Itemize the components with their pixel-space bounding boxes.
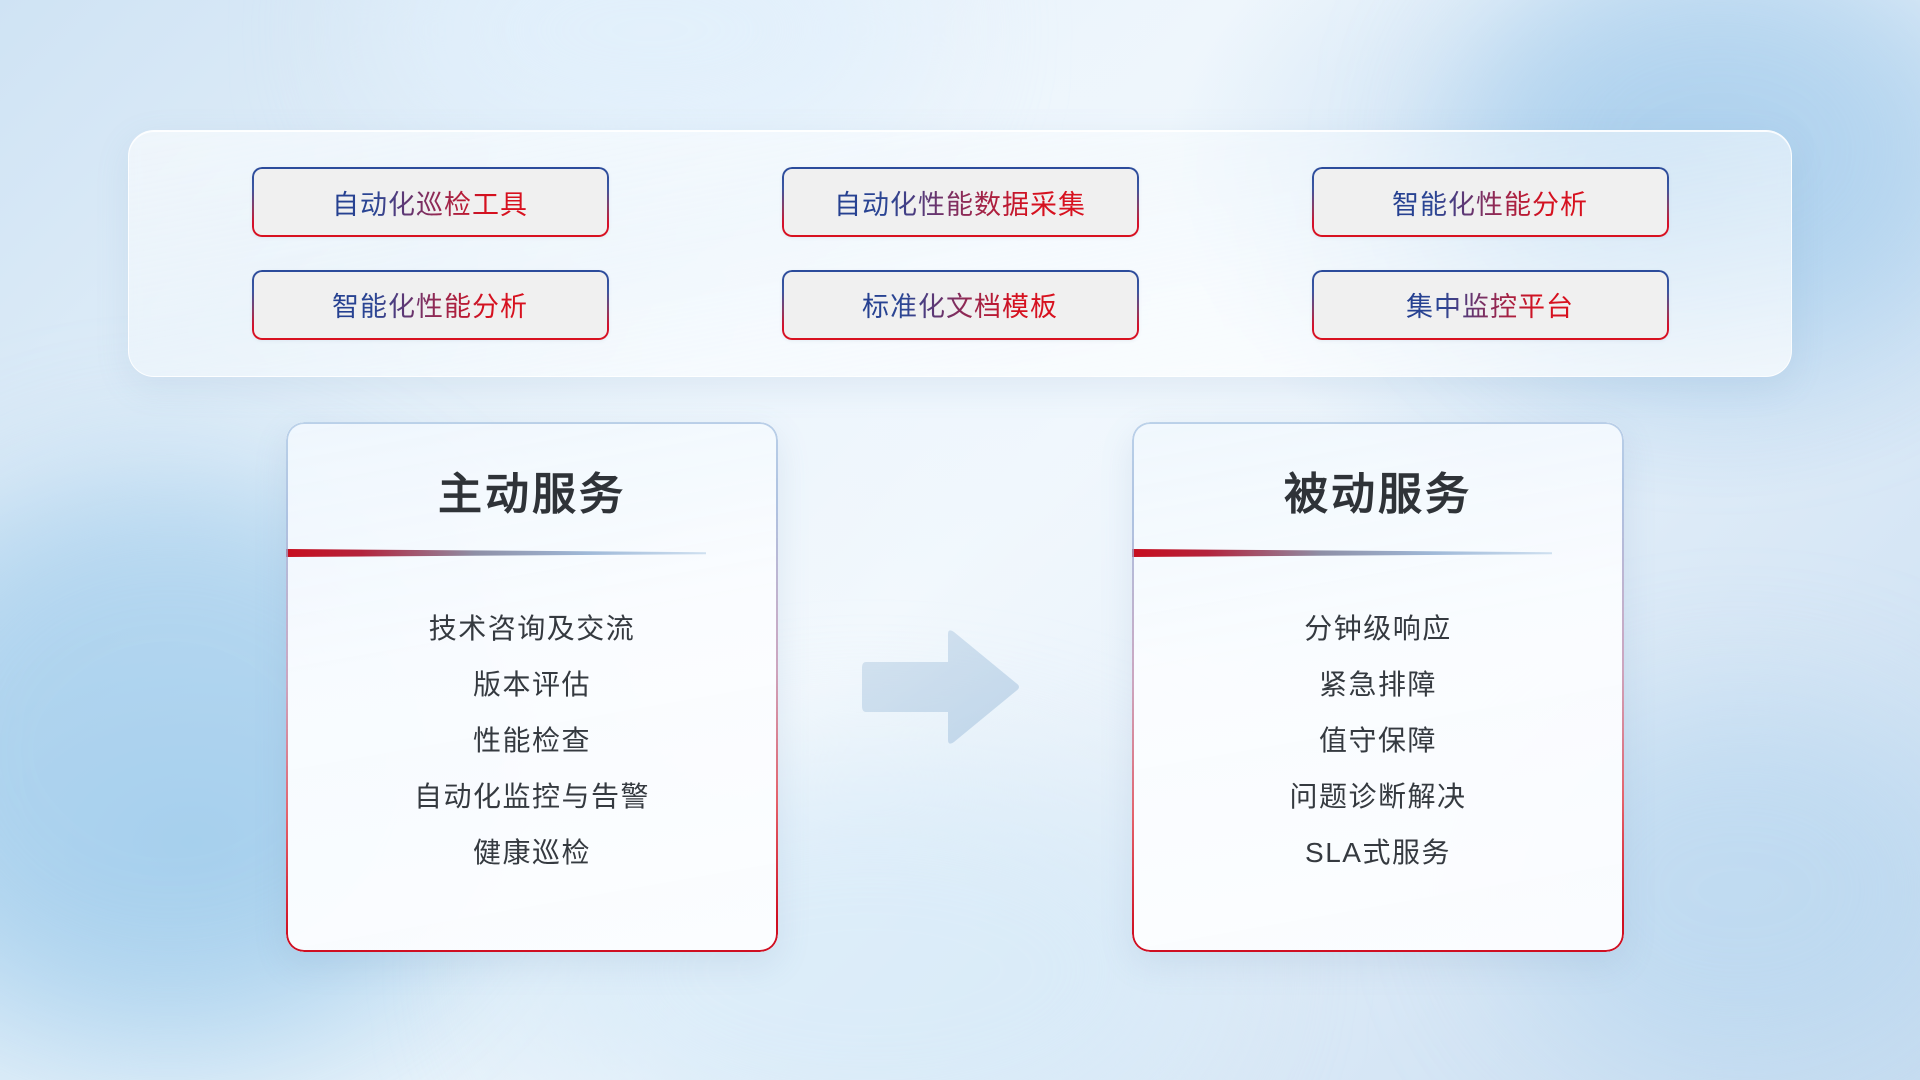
card-divider [286,548,706,558]
service-card-reactive: 被动服务 分钟级响应 紧急排障 值守保障 问题诊断解决 SLA式服务 [1132,422,1624,952]
capability-tag-label: 集中监控平台 [1406,285,1574,324]
card-divider [1132,548,1552,558]
service-item-list: 技术咨询及交流 版本评估 性能检查 自动化监控与告警 健康巡检 [286,601,778,881]
capability-tag[interactable]: 集中监控平台 [1312,270,1669,340]
list-item: 健康巡检 [286,825,778,881]
list-item: 性能检查 [286,713,778,769]
list-item: 技术咨询及交流 [286,601,778,657]
list-item: 版本评估 [286,657,778,713]
capability-tag-label: 标准化文档模板 [862,285,1058,324]
capability-tag[interactable]: 自动化巡检工具 [252,167,609,237]
capability-tag-label: 自动化巡检工具 [332,183,528,222]
capability-tag-label: 智能化性能分析 [1392,183,1588,222]
capability-tags-panel: 自动化巡检工具 自动化性能数据采集 智能化性能分析 智能化性能分析 标准化文档模… [128,130,1792,377]
diagram-canvas: 自动化巡检工具 自动化性能数据采集 智能化性能分析 智能化性能分析 标准化文档模… [0,0,1920,1080]
capability-tag[interactable]: 智能化性能分析 [252,270,609,340]
arrow-right-icon [862,628,1022,746]
service-item-list: 分钟级响应 紧急排障 值守保障 问题诊断解决 SLA式服务 [1132,601,1624,881]
list-item: 紧急排障 [1132,657,1624,713]
list-item: 值守保障 [1132,713,1624,769]
list-item: SLA式服务 [1132,825,1624,881]
list-item: 问题诊断解决 [1132,769,1624,825]
capability-tag[interactable]: 标准化文档模板 [782,270,1139,340]
card-title: 被动服务 [1132,458,1624,522]
capability-tag-label: 智能化性能分析 [332,285,528,324]
card-title: 主动服务 [286,458,778,522]
list-item: 分钟级响应 [1132,601,1624,657]
list-item: 自动化监控与告警 [286,769,778,825]
service-card-proactive: 主动服务 技术咨询及交流 版本评估 性能检查 自动化监控与告警 健康巡检 [286,422,778,952]
capability-tag[interactable]: 智能化性能分析 [1312,167,1669,237]
capability-tag[interactable]: 自动化性能数据采集 [782,167,1139,237]
capability-tag-label: 自动化性能数据采集 [834,183,1086,222]
